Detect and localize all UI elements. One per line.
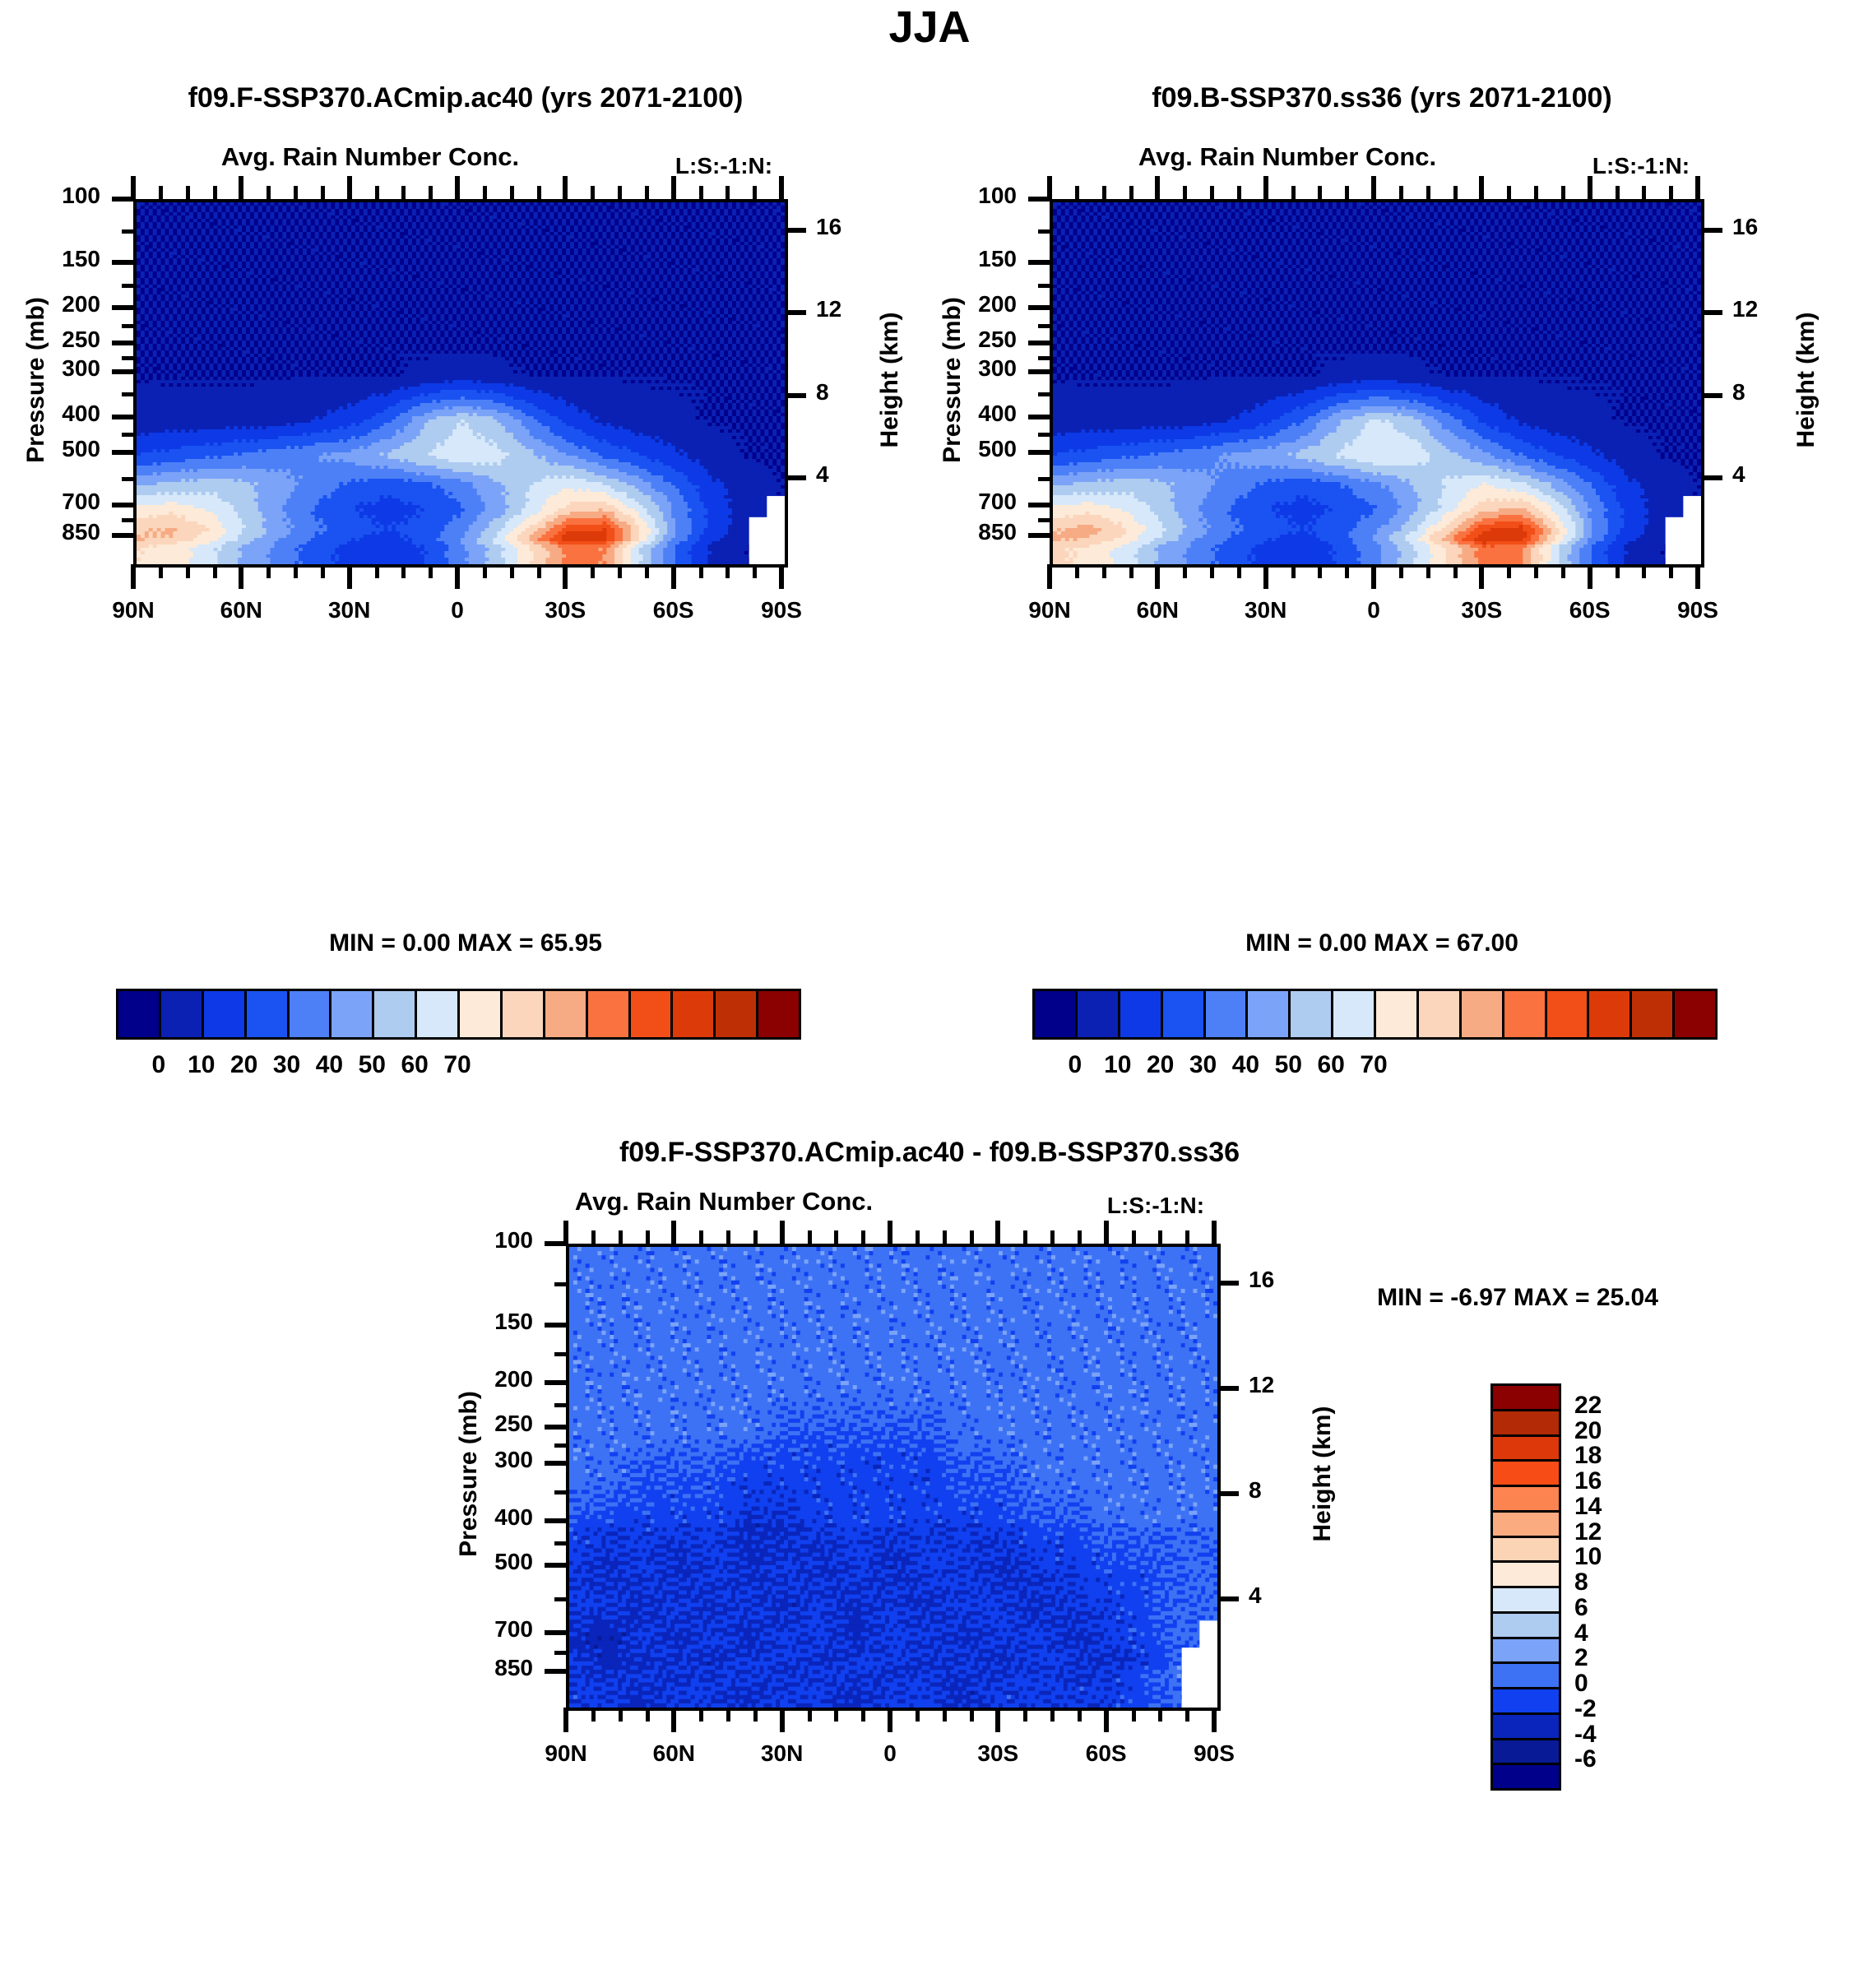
height-tick-label-8: 8 xyxy=(816,379,829,405)
pressure-tick-label-150: 150 xyxy=(978,246,1017,272)
pressure-tick-label-100: 100 xyxy=(494,1227,533,1254)
lat-top-minor-tick xyxy=(591,186,595,199)
pressure-tick-300 xyxy=(545,1461,566,1466)
lat-top-minor-tick xyxy=(808,1230,812,1244)
pressure-tick-label-250: 250 xyxy=(978,327,1017,353)
lat-minor-tick xyxy=(1507,564,1511,578)
lat-minor-tick xyxy=(753,1708,758,1722)
colorbar-cell-10[interactable] xyxy=(543,989,588,1040)
pressure-tick-label-250: 250 xyxy=(62,327,100,353)
lat-minor-tick xyxy=(1210,564,1214,578)
lat-tick-label-60N: 60N xyxy=(653,1740,695,1767)
main-title: JJA xyxy=(888,2,970,53)
lat-top-minor-tick xyxy=(1078,1230,1082,1244)
panel-right-plot-area[interactable] xyxy=(1050,199,1704,568)
lat-top-minor-tick xyxy=(619,1230,623,1244)
lat-tick-60N xyxy=(1155,564,1160,589)
colorbar-cell-12[interactable] xyxy=(1545,989,1590,1040)
lat-minor-tick xyxy=(1399,564,1403,578)
pressure-tick-200 xyxy=(112,305,133,310)
pressure-minor-tick xyxy=(554,1597,566,1601)
lat-tick-label-60S: 60S xyxy=(1086,1740,1127,1767)
lat-top-minor-tick xyxy=(159,186,163,199)
colorbar-cell-15[interactable] xyxy=(1672,989,1718,1040)
colorbar-cell-4[interactable] xyxy=(1203,989,1249,1040)
diff-colorbar-cell-0[interactable] xyxy=(1490,1383,1561,1411)
lat-top-minor-tick xyxy=(618,186,622,199)
colorbar-label-20: 20 xyxy=(1147,1051,1174,1079)
lat-minor-tick xyxy=(591,1708,596,1722)
lat-minor-tick xyxy=(1078,1708,1082,1722)
lat-top-minor-tick xyxy=(1426,186,1430,199)
lat-top-minor-tick xyxy=(213,186,217,199)
lat-minor-tick xyxy=(1669,564,1673,578)
lat-tick-label-90S: 90S xyxy=(761,597,802,623)
diff-colorbar-cell-6[interactable] xyxy=(1490,1536,1561,1564)
lat-tick-30S xyxy=(1479,564,1484,589)
lat-minor-tick xyxy=(1132,1708,1136,1722)
height-tick-label-4: 4 xyxy=(1249,1583,1262,1609)
pressure-minor-tick xyxy=(554,1352,566,1356)
panel-diff-ls-label: L:S:-1:N: xyxy=(1107,1193,1204,1219)
panel-diff-title: f09.F-SSP370.ACmip.ac40 - f09.B-SSP370.s… xyxy=(619,1137,1240,1169)
lat-top-minor-tick xyxy=(1399,186,1403,199)
lat-minor-tick xyxy=(808,1708,812,1722)
lat-tick-label-60N: 60N xyxy=(220,597,262,623)
pressure-tick-700 xyxy=(545,1630,566,1635)
lat-top-minor-tick xyxy=(375,186,379,199)
colorbar-label-70: 70 xyxy=(1360,1051,1387,1079)
lat-top-minor-tick xyxy=(834,1230,838,1244)
colorbar-label-0: 0 xyxy=(152,1051,166,1079)
diff-colorbar-cell-15[interactable] xyxy=(1490,1763,1561,1791)
lat-top-minor-tick xyxy=(699,186,703,199)
colorbar-cell-7[interactable] xyxy=(415,989,460,1040)
diff-colorbar-label-6: 6 xyxy=(1574,1594,1588,1622)
pressure-tick-850 xyxy=(112,533,133,538)
diff-colorbar-label-10: 10 xyxy=(1574,1543,1602,1571)
lat-tick-label-30N: 30N xyxy=(1245,597,1286,623)
lat-minor-tick xyxy=(483,564,487,578)
pressure-tick-150 xyxy=(112,260,133,265)
diff-colorbar-label-18: 18 xyxy=(1574,1442,1602,1470)
lat-top-tick xyxy=(1588,176,1592,199)
colorbar-cell-5[interactable] xyxy=(329,989,374,1040)
panel-right-ylabel: Pressure (mb) xyxy=(939,297,967,463)
lat-minor-tick xyxy=(1642,564,1646,578)
pressure-tick-500 xyxy=(545,1563,566,1568)
lat-minor-tick xyxy=(861,1708,865,1722)
lat-top-minor-tick xyxy=(591,1230,596,1244)
diff-colorbar-cell-8[interactable] xyxy=(1490,1586,1561,1614)
diff-colorbar-cell-1[interactable] xyxy=(1490,1409,1561,1437)
lat-tick-label-90S: 90S xyxy=(1194,1740,1235,1767)
lat-minor-tick xyxy=(1050,1708,1055,1722)
lat-minor-tick xyxy=(429,564,433,578)
pressure-minor-tick xyxy=(122,477,133,481)
height-tick-label-4: 4 xyxy=(1732,461,1745,488)
pressure-tick-label-150: 150 xyxy=(494,1309,533,1335)
lat-tick-label-90N: 90N xyxy=(1028,597,1070,623)
lat-top-minor-tick xyxy=(1075,186,1079,199)
colorbar-cell-1[interactable] xyxy=(159,989,204,1040)
pressure-tick-700 xyxy=(112,503,133,507)
pressure-minor-tick xyxy=(554,1403,566,1407)
pressure-minor-tick xyxy=(1038,324,1050,328)
lat-tick-90N xyxy=(131,564,136,589)
panel-right-title: f09.B-SSP370.ss36 (yrs 2071-2100) xyxy=(1152,82,1612,114)
panel-right-subtitle: Avg. Rain Number Conc. xyxy=(1138,142,1436,172)
height-tick-16 xyxy=(785,228,806,233)
lat-minor-tick xyxy=(1318,564,1322,578)
height-tick-label-16: 16 xyxy=(1249,1267,1274,1293)
pressure-tick-250 xyxy=(1028,341,1050,345)
lat-minor-tick xyxy=(834,1708,838,1722)
lat-top-minor-tick xyxy=(645,186,649,199)
diff-colorbar-label-22: 22 xyxy=(1574,1392,1602,1420)
lat-top-tick xyxy=(455,176,460,199)
pressure-minor-tick xyxy=(1038,229,1050,234)
colorbar-cell-7[interactable] xyxy=(1331,989,1376,1040)
pressure-minor-tick xyxy=(122,229,133,234)
lat-top-tick xyxy=(1047,176,1052,199)
pressure-tick-label-500: 500 xyxy=(978,436,1017,462)
lat-tick-0 xyxy=(455,564,460,589)
lat-minor-tick xyxy=(1102,564,1106,578)
lat-top-tick xyxy=(239,176,243,199)
lat-minor-tick xyxy=(726,1708,730,1722)
panel-diff-y2label: Height (km) xyxy=(1309,1406,1337,1542)
lat-top-tick xyxy=(671,1221,676,1244)
lat-top-minor-tick xyxy=(1158,1230,1162,1244)
lat-top-tick xyxy=(1695,176,1700,199)
pressure-tick-label-250: 250 xyxy=(494,1411,533,1437)
lat-minor-tick xyxy=(1561,564,1565,578)
lat-tick-90S xyxy=(1695,564,1700,589)
diff-colorbar-label-16: 16 xyxy=(1574,1467,1602,1495)
lat-top-minor-tick xyxy=(1453,186,1458,199)
height-tick-4 xyxy=(1701,475,1722,480)
lat-tick-0 xyxy=(888,1708,892,1732)
pressure-tick-200 xyxy=(1028,305,1050,310)
height-tick-label-16: 16 xyxy=(816,214,841,240)
pressure-minor-tick xyxy=(554,1282,566,1286)
panel-diff-minmax: MIN = -6.97 MAX = 25.04 xyxy=(1377,1284,1658,1312)
lat-top-tick xyxy=(1479,176,1484,199)
lat-top-minor-tick xyxy=(1102,186,1106,199)
height-tick-label-8: 8 xyxy=(1732,379,1745,405)
pressure-tick-250 xyxy=(545,1425,566,1430)
height-tick-16 xyxy=(1701,228,1722,233)
lat-top-minor-tick xyxy=(1642,186,1646,199)
colorbar-cell-10[interactable] xyxy=(1459,989,1504,1040)
lat-tick-90S xyxy=(779,564,784,589)
pressure-tick-150 xyxy=(545,1323,566,1328)
pressure-minor-tick xyxy=(1038,433,1050,437)
pressure-tick-400 xyxy=(1028,415,1050,419)
diff-colorbar-label-20: 20 xyxy=(1574,1417,1602,1445)
lat-tick-label-60S: 60S xyxy=(1569,597,1611,623)
lat-top-minor-tick xyxy=(916,1230,920,1244)
colorbar-cell-13[interactable] xyxy=(1587,989,1632,1040)
pressure-tick-label-500: 500 xyxy=(494,1549,533,1575)
lat-minor-tick xyxy=(1345,564,1349,578)
lat-minor-tick xyxy=(645,564,649,578)
lat-tick-label-30N: 30N xyxy=(761,1740,803,1767)
diff-colorbar-label-0: 0 xyxy=(1574,1670,1588,1698)
lat-tick-label-60N: 60N xyxy=(1137,597,1179,623)
lat-top-tick xyxy=(1212,1221,1217,1244)
colorbar-cell-13[interactable] xyxy=(670,989,716,1040)
lat-minor-tick xyxy=(1426,564,1430,578)
lat-top-minor-tick xyxy=(1210,186,1214,199)
lat-minor-tick xyxy=(213,564,217,578)
lat-top-minor-tick xyxy=(294,186,298,199)
colorbar-cell-15[interactable] xyxy=(756,989,801,1040)
lat-top-tick xyxy=(1104,1221,1109,1244)
lat-minor-tick xyxy=(753,564,757,578)
panel-diff-ylabel: Pressure (mb) xyxy=(455,1391,483,1557)
lat-minor-tick xyxy=(591,564,595,578)
pressure-tick-700 xyxy=(1028,503,1050,507)
colorbar-cell-9[interactable] xyxy=(1416,989,1462,1040)
panel-left-plot-area[interactable] xyxy=(133,199,788,568)
colorbar-cell-1[interactable] xyxy=(1075,989,1120,1040)
colorbar-cell-6[interactable] xyxy=(1288,989,1333,1040)
pressure-tick-label-150: 150 xyxy=(62,246,100,272)
lat-minor-tick xyxy=(294,564,298,578)
colorbar-cell-14[interactable] xyxy=(1630,989,1675,1040)
diff-colorbar-label--4: -4 xyxy=(1574,1721,1597,1749)
pressure-tick-label-200: 200 xyxy=(978,291,1017,317)
lat-top-tick xyxy=(1371,176,1376,199)
diff-colorbar-cell-4[interactable] xyxy=(1490,1485,1561,1513)
pressure-tick-300 xyxy=(1028,369,1050,374)
lat-top-minor-tick xyxy=(753,1230,758,1244)
lat-tick-label-0: 0 xyxy=(451,597,464,623)
lat-minor-tick xyxy=(186,564,190,578)
lat-top-minor-tick xyxy=(943,1230,947,1244)
height-tick-8 xyxy=(785,393,806,398)
panel-left-minmax: MIN = 0.00 MAX = 65.95 xyxy=(329,929,602,957)
lat-tick-60S xyxy=(1104,1708,1109,1732)
contour-field xyxy=(137,202,785,564)
colorbar-label-30: 30 xyxy=(1189,1051,1217,1079)
diff-colorbar-cell-9[interactable] xyxy=(1490,1611,1561,1639)
lat-top-minor-tick xyxy=(1507,186,1511,199)
colorbar-cell-14[interactable] xyxy=(713,989,758,1040)
lat-top-minor-tick xyxy=(401,186,406,199)
lat-tick-30N xyxy=(780,1708,785,1732)
pressure-tick-label-700: 700 xyxy=(494,1616,533,1643)
colorbar-cell-8[interactable] xyxy=(457,989,503,1040)
lat-tick-label-30S: 30S xyxy=(1461,597,1502,623)
pressure-minor-tick xyxy=(1038,518,1050,522)
lat-top-tick xyxy=(1155,176,1160,199)
colorbar-cell-11[interactable] xyxy=(586,989,631,1040)
pressure-minor-tick xyxy=(122,324,133,328)
pressure-tick-400 xyxy=(545,1518,566,1523)
lat-tick-label-30N: 30N xyxy=(328,597,370,623)
lat-top-tick xyxy=(1263,176,1268,199)
lat-tick-30N xyxy=(1263,564,1268,589)
pressure-tick-850 xyxy=(1028,533,1050,538)
lat-minor-tick xyxy=(1158,1708,1162,1722)
diff-colorbar-cell-13[interactable] xyxy=(1490,1712,1561,1740)
diff-colorbar-label--2: -2 xyxy=(1574,1695,1597,1723)
lat-top-tick xyxy=(780,1221,785,1244)
lat-top-tick xyxy=(779,176,784,199)
lat-tick-30N xyxy=(347,564,352,589)
lat-minor-tick xyxy=(916,1708,920,1722)
lat-top-minor-tick xyxy=(1050,1230,1055,1244)
height-tick-label-12: 12 xyxy=(1249,1372,1274,1398)
lat-top-minor-tick xyxy=(1132,1230,1136,1244)
pressure-tick-250 xyxy=(112,341,133,345)
lat-tick-label-0: 0 xyxy=(883,1740,897,1767)
pressure-tick-200 xyxy=(545,1380,566,1385)
pressure-tick-label-200: 200 xyxy=(494,1366,533,1393)
height-tick-label-12: 12 xyxy=(816,296,841,322)
lat-minor-tick xyxy=(699,1708,703,1722)
colorbar-cell-3[interactable] xyxy=(244,989,290,1040)
panel-right-y2label: Height (km) xyxy=(1792,313,1820,448)
colorbar-cell-5[interactable] xyxy=(1245,989,1291,1040)
lat-tick-90N xyxy=(1047,564,1052,589)
lat-top-minor-tick xyxy=(1669,186,1673,199)
lat-tick-90S xyxy=(1212,1708,1217,1732)
diff-colorbar-label-4: 4 xyxy=(1574,1620,1588,1647)
lat-top-tick xyxy=(563,176,568,199)
diff-colorbar-cell-2[interactable] xyxy=(1490,1434,1561,1462)
lat-minor-tick xyxy=(619,1708,623,1722)
lat-top-minor-tick xyxy=(1345,186,1349,199)
pressure-minor-tick xyxy=(554,1444,566,1448)
lat-top-tick xyxy=(995,1221,1000,1244)
pressure-tick-label-400: 400 xyxy=(494,1504,533,1531)
pressure-tick-400 xyxy=(112,415,133,419)
pressure-tick-label-100: 100 xyxy=(978,183,1017,209)
colorbar-cell-0[interactable] xyxy=(116,989,161,1040)
diff-colorbar-cell-14[interactable] xyxy=(1490,1738,1561,1766)
lat-top-minor-tick xyxy=(726,1230,730,1244)
panel-diff-colorbar[interactable] xyxy=(1490,1383,1561,1788)
pressure-minor-tick xyxy=(122,518,133,522)
lat-minor-tick xyxy=(943,1708,947,1722)
panel-left-subtitle: Avg. Rain Number Conc. xyxy=(221,142,519,172)
colorbar-cell-6[interactable] xyxy=(372,989,417,1040)
colorbar-label-50: 50 xyxy=(359,1051,386,1079)
colorbar-label-10: 10 xyxy=(1104,1051,1131,1079)
colorbar-cell-12[interactable] xyxy=(628,989,674,1040)
lat-top-minor-tick xyxy=(1183,186,1187,199)
height-tick-4 xyxy=(785,475,806,480)
panel-right-minmax: MIN = 0.00 MAX = 67.00 xyxy=(1245,929,1518,957)
pressure-tick-500 xyxy=(1028,450,1050,455)
colorbar-cell-2[interactable] xyxy=(1118,989,1163,1040)
pressure-tick-label-400: 400 xyxy=(978,401,1017,427)
diff-colorbar-label-14: 14 xyxy=(1574,1493,1602,1521)
colorbar-cell-9[interactable] xyxy=(500,989,545,1040)
height-tick-16 xyxy=(1217,1281,1239,1286)
colorbar-cell-0[interactable] xyxy=(1032,989,1078,1040)
lat-tick-label-90N: 90N xyxy=(112,597,154,623)
pressure-minor-tick xyxy=(554,1490,566,1494)
lat-top-minor-tick xyxy=(970,1230,974,1244)
pressure-tick-label-700: 700 xyxy=(62,489,100,515)
colorbar-cell-11[interactable] xyxy=(1502,989,1547,1040)
lat-minor-tick xyxy=(1023,1708,1027,1722)
colorbar-label-50: 50 xyxy=(1275,1051,1302,1079)
height-tick-label-8: 8 xyxy=(1249,1477,1262,1504)
pressure-minor-tick xyxy=(122,284,133,288)
lat-minor-tick xyxy=(321,564,325,578)
colorbar-label-10: 10 xyxy=(188,1051,215,1079)
diff-colorbar-label-8: 8 xyxy=(1574,1569,1588,1596)
lat-top-minor-tick xyxy=(726,186,730,199)
lat-top-minor-tick xyxy=(1561,186,1565,199)
colorbar-label-20: 20 xyxy=(230,1051,257,1079)
colorbar-cell-3[interactable] xyxy=(1161,989,1206,1040)
lat-top-tick xyxy=(563,1221,568,1244)
colorbar-cell-8[interactable] xyxy=(1374,989,1419,1040)
diff-colorbar-cell-5[interactable] xyxy=(1490,1510,1561,1538)
lat-minor-tick xyxy=(1185,1708,1189,1722)
lat-top-minor-tick xyxy=(483,186,487,199)
figure-root: JJA f09.F-SSP370.ACmip.ac40 (yrs 2071-21… xyxy=(0,0,1859,1988)
diff-colorbar-label-2: 2 xyxy=(1574,1644,1588,1672)
diff-colorbar-cell-7[interactable] xyxy=(1490,1560,1561,1588)
lat-tick-30S xyxy=(995,1708,1000,1732)
height-tick-label-16: 16 xyxy=(1732,214,1758,240)
lat-top-minor-tick xyxy=(186,186,190,199)
lat-top-minor-tick xyxy=(1318,186,1322,199)
contour-field xyxy=(1053,202,1701,564)
lat-tick-label-90N: 90N xyxy=(545,1740,586,1767)
lat-minor-tick xyxy=(970,1708,974,1722)
lat-tick-60S xyxy=(671,564,676,589)
pressure-tick-label-100: 100 xyxy=(62,183,100,209)
lat-top-minor-tick xyxy=(1291,186,1296,199)
diff-colorbar-cell-10[interactable] xyxy=(1490,1637,1561,1665)
diff-colorbar-cell-12[interactable] xyxy=(1490,1687,1561,1715)
lat-minor-tick xyxy=(1291,564,1296,578)
height-tick-8 xyxy=(1701,393,1722,398)
lat-minor-tick xyxy=(618,564,622,578)
pressure-minor-tick xyxy=(1038,392,1050,396)
panel-left-colorbar[interactable] xyxy=(116,989,799,1040)
panel-diff-plot-area[interactable] xyxy=(566,1244,1221,1711)
colorbar-label-60: 60 xyxy=(401,1051,428,1079)
lat-top-tick xyxy=(888,1221,892,1244)
diff-colorbar-cell-11[interactable] xyxy=(1490,1661,1561,1689)
lat-minor-tick xyxy=(1534,564,1538,578)
lat-tick-label-30S: 30S xyxy=(977,1740,1018,1767)
height-tick-label-12: 12 xyxy=(1732,296,1758,322)
lat-tick-label-0: 0 xyxy=(1367,597,1380,623)
panel-right-colorbar[interactable] xyxy=(1032,989,1715,1040)
height-tick-12 xyxy=(1701,310,1722,315)
panel-diff-subtitle: Avg. Rain Number Conc. xyxy=(575,1187,873,1216)
lat-tick-90N xyxy=(563,1708,568,1732)
lat-top-minor-tick xyxy=(267,186,271,199)
lat-tick-label-30S: 30S xyxy=(545,597,586,623)
colorbar-cell-2[interactable] xyxy=(202,989,247,1040)
diff-colorbar-cell-3[interactable] xyxy=(1490,1459,1561,1487)
pressure-minor-tick xyxy=(1038,284,1050,288)
pressure-tick-label-850: 850 xyxy=(494,1655,533,1681)
colorbar-cell-4[interactable] xyxy=(287,989,332,1040)
